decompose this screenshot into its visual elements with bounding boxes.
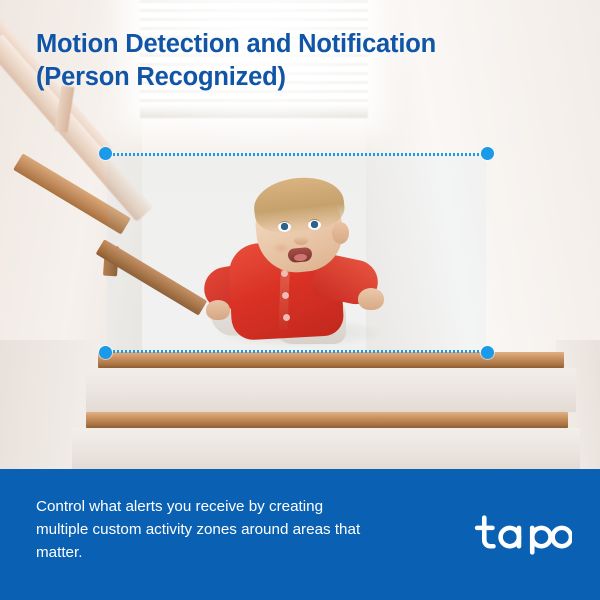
window-sill bbox=[140, 104, 368, 118]
tapo-logo bbox=[470, 513, 572, 555]
stair-riser-lower bbox=[72, 428, 580, 470]
stair-tread-lower bbox=[86, 412, 568, 428]
title-line-2: (Person Recognized) bbox=[36, 61, 556, 94]
title-line-1: Motion Detection and Notification bbox=[36, 28, 556, 61]
zone-handle-bottom-right[interactable] bbox=[481, 346, 494, 359]
caption-line-2: multiple custom activity zones around ar… bbox=[36, 518, 446, 541]
zone-border-bottom bbox=[105, 350, 488, 353]
caption-line-1: Control what alerts you receive by creat… bbox=[36, 495, 446, 518]
zone-handle-top-right[interactable] bbox=[481, 147, 494, 160]
zone-border-right bbox=[485, 153, 488, 353]
bottom-banner: Control what alerts you receive by creat… bbox=[0, 469, 600, 600]
zone-handle-bottom-left[interactable] bbox=[99, 346, 112, 359]
zone-border-top bbox=[105, 153, 488, 156]
zone-handle-top-left[interactable] bbox=[99, 147, 112, 160]
stair-riser-upper bbox=[86, 368, 576, 412]
promo-card: Motion Detection and Notification (Perso… bbox=[0, 0, 600, 600]
banner-caption: Control what alerts you receive by creat… bbox=[36, 495, 446, 564]
zone-border-left bbox=[105, 153, 108, 353]
stair-tread-upper bbox=[98, 352, 564, 368]
activity-zone-fill bbox=[107, 155, 486, 351]
caption-line-3: matter. bbox=[36, 541, 446, 564]
activity-zone-selection[interactable] bbox=[105, 153, 488, 353]
page-title: Motion Detection and Notification (Perso… bbox=[36, 28, 556, 93]
